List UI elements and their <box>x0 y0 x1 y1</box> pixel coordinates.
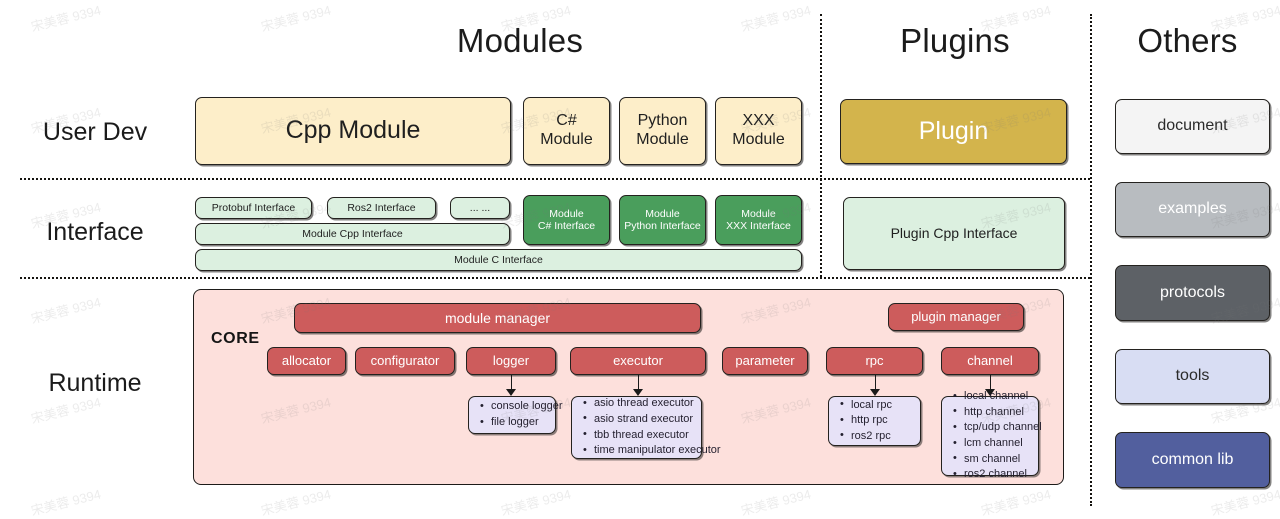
list-item: tbb thread executor <box>594 428 691 444</box>
arrow-rpc <box>868 375 882 396</box>
runtime-module-manager-label: module manager <box>445 310 550 327</box>
runtime-channel-details-list: local channel http channel tcp/udp chann… <box>950 389 1028 483</box>
arrow-executor-shaft <box>638 375 639 390</box>
list-item: asio thread executor <box>594 396 691 412</box>
core-label-text: CORE <box>211 330 260 347</box>
list-item: local rpc <box>851 398 910 414</box>
runtime-logger-details-list: console logger file logger <box>477 399 545 430</box>
column-header-modules-label: Modules <box>457 22 583 59</box>
list-item: http rpc <box>851 413 910 429</box>
others-common-lib[interactable]: common lib <box>1115 432 1270 488</box>
column-header-plugins: Plugins <box>830 22 1080 60</box>
runtime-channel[interactable]: channel <box>941 347 1039 375</box>
interface-plugin-cpp[interactable]: Plugin Cpp Interface <box>843 197 1065 270</box>
arrow-logger-head <box>506 389 516 396</box>
runtime-logger-details: console logger file logger <box>468 396 556 434</box>
others-examples-label: examples <box>1158 200 1226 219</box>
arrow-channel-shaft <box>990 375 991 390</box>
others-protocols[interactable]: protocols <box>1115 265 1270 321</box>
user-dev-python-module-label: Python Module <box>636 112 688 150</box>
arrow-rpc-shaft <box>875 375 876 390</box>
runtime-allocator[interactable]: allocator <box>267 347 346 375</box>
divider-modules-plugins <box>820 14 822 277</box>
interface-module-cpp[interactable]: Module Cpp Interface <box>195 223 510 245</box>
interface-module-python-label: Module Python Interface <box>624 208 700 233</box>
runtime-allocator-label: allocator <box>282 353 331 368</box>
user-dev-csharp-module[interactable]: C# Module <box>523 97 610 165</box>
interface-ros2-label: Ros2 Interface <box>347 202 415 214</box>
others-protocols-label: protocols <box>1160 284 1225 303</box>
arrow-rpc-head <box>870 389 880 396</box>
row-header-runtime: Runtime <box>10 369 180 398</box>
others-document-label: document <box>1157 117 1227 136</box>
column-header-plugins-label: Plugins <box>900 22 1010 59</box>
runtime-executor-details: asio thread executor asio strand executo… <box>571 396 702 459</box>
watermark: 宋美蓉 9394 <box>979 484 1053 519</box>
divider-interface-runtime <box>20 277 1090 279</box>
row-header-interface-label: Interface <box>46 218 143 246</box>
list-item: sm channel <box>964 452 1028 468</box>
list-item: lcm channel <box>964 436 1028 452</box>
arrow-executor-head <box>633 389 643 396</box>
list-item: http channel <box>964 405 1028 421</box>
row-header-user-dev-label: User Dev <box>43 118 147 146</box>
watermark: 宋美蓉 9394 <box>739 0 813 35</box>
interface-module-csharp-label: Module C# Interface <box>538 208 595 233</box>
runtime-executor-label: executor <box>613 353 663 368</box>
watermark: 宋美蓉 9394 <box>259 484 333 519</box>
divider-user-dev-interface <box>20 178 1090 180</box>
list-item: tcp/udp channel <box>964 420 1028 436</box>
core-label: CORE <box>211 330 260 348</box>
interface-protobuf[interactable]: Protobuf Interface <box>195 197 312 219</box>
interface-module-c-label: Module C Interface <box>454 254 543 266</box>
runtime-module-manager[interactable]: module manager <box>294 303 701 333</box>
list-item: local channel <box>964 389 1028 405</box>
runtime-plugin-manager[interactable]: plugin manager <box>888 303 1024 331</box>
column-header-modules: Modules <box>320 22 720 60</box>
list-item: console logger <box>491 399 545 415</box>
interface-protobuf-label: Protobuf Interface <box>212 202 295 214</box>
runtime-rpc[interactable]: rpc <box>826 347 923 375</box>
arrow-logger <box>504 375 518 396</box>
runtime-plugin-manager-label: plugin manager <box>911 309 1001 324</box>
runtime-parameter[interactable]: parameter <box>722 347 808 375</box>
row-header-runtime-label: Runtime <box>48 369 141 397</box>
watermark: 宋美蓉 9394 <box>739 484 813 519</box>
runtime-executor-details-list: asio thread executor asio strand executo… <box>580 396 691 458</box>
interface-more-label: ... ... <box>470 202 490 214</box>
interface-more[interactable]: ... ... <box>450 197 510 219</box>
list-item: ros2 rpc <box>851 429 910 445</box>
user-dev-cpp-module-label: Cpp Module <box>286 116 421 146</box>
list-item: asio strand executor <box>594 412 691 428</box>
watermark: 宋美蓉 9394 <box>499 484 573 519</box>
watermark: 宋美蓉 9394 <box>29 0 103 35</box>
interface-module-xxx[interactable]: Module XXX Interface <box>715 195 802 245</box>
runtime-configurator-label: configurator <box>371 353 440 368</box>
user-dev-plugin-label: Plugin <box>919 117 989 147</box>
runtime-rpc-details-list: local rpc http rpc ros2 rpc <box>837 398 910 445</box>
list-item: ros2 channel <box>964 467 1028 483</box>
interface-module-cpp-label: Module Cpp Interface <box>302 228 402 240</box>
list-item: file logger <box>491 415 545 431</box>
runtime-logger[interactable]: logger <box>466 347 556 375</box>
divider-plugins-others <box>1090 14 1092 506</box>
arrow-executor <box>631 375 645 396</box>
row-header-interface: Interface <box>10 218 180 247</box>
watermark: 宋美蓉 9394 <box>1209 484 1280 519</box>
column-header-others: Others <box>1100 22 1275 60</box>
watermark: 宋美蓉 9394 <box>29 484 103 519</box>
arrow-logger-shaft <box>511 375 512 390</box>
list-item: time manipulator executor <box>594 443 691 459</box>
column-header-others-label: Others <box>1137 22 1237 59</box>
interface-module-c[interactable]: Module C Interface <box>195 249 802 271</box>
row-header-user-dev: User Dev <box>10 118 180 147</box>
user-dev-csharp-module-label: C# Module <box>540 112 592 150</box>
others-tools-label: tools <box>1176 367 1210 386</box>
interface-module-python[interactable]: Module Python Interface <box>619 195 706 245</box>
interface-module-xxx-label: Module XXX Interface <box>726 208 791 233</box>
interface-module-csharp[interactable]: Module C# Interface <box>523 195 610 245</box>
runtime-logger-label: logger <box>493 353 529 368</box>
interface-plugin-cpp-label: Plugin Cpp Interface <box>891 225 1018 242</box>
others-tools[interactable]: tools <box>1115 349 1270 404</box>
user-dev-plugin[interactable]: Plugin <box>840 99 1067 164</box>
runtime-rpc-details: local rpc http rpc ros2 rpc <box>828 396 921 446</box>
others-common-lib-label: common lib <box>1152 451 1234 470</box>
user-dev-xxx-module-label: XXX Module <box>732 112 784 150</box>
watermark: 宋美蓉 9394 <box>29 292 103 328</box>
runtime-parameter-label: parameter <box>735 353 794 368</box>
others-examples[interactable]: examples <box>1115 182 1270 237</box>
user-dev-cpp-module[interactable]: Cpp Module <box>195 97 511 165</box>
runtime-channel-details: local channel http channel tcp/udp chann… <box>941 396 1039 476</box>
runtime-rpc-label: rpc <box>865 353 883 368</box>
runtime-configurator[interactable]: configurator <box>355 347 455 375</box>
user-dev-python-module[interactable]: Python Module <box>619 97 706 165</box>
runtime-channel-label: channel <box>967 353 1013 368</box>
interface-ros2[interactable]: Ros2 Interface <box>327 197 436 219</box>
others-document[interactable]: document <box>1115 99 1270 154</box>
user-dev-xxx-module[interactable]: XXX Module <box>715 97 802 165</box>
runtime-executor[interactable]: executor <box>570 347 706 375</box>
